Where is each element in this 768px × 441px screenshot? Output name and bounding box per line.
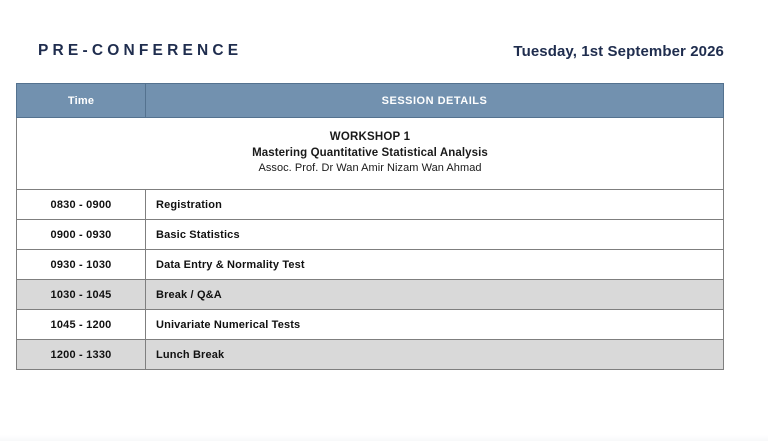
- header-date: Tuesday, 1st September 2026: [513, 44, 724, 59]
- table-row: 0930 - 1030 Data Entry & Normality Test: [17, 250, 724, 280]
- table-row: 1200 - 1330 Lunch Break: [17, 340, 724, 370]
- slide-bottom-edge: [0, 435, 768, 441]
- schedule-table-container: Time SESSION DETAILS WORKSHOP 1 Masterin…: [16, 83, 723, 370]
- schedule-table: Time SESSION DETAILS WORKSHOP 1 Masterin…: [16, 83, 724, 370]
- table-row: 0900 - 0930 Basic Statistics: [17, 220, 724, 250]
- row-session: Break / Q&A: [146, 280, 724, 310]
- row-session: Univariate Numerical Tests: [146, 310, 724, 340]
- row-session: Registration: [146, 190, 724, 220]
- column-header-time: Time: [17, 84, 146, 118]
- table-row: 1045 - 1200 Univariate Numerical Tests: [17, 310, 724, 340]
- workshop-presenter: Assoc. Prof. Dr Wan Amir Nizam Wan Ahmad: [25, 161, 715, 177]
- row-time: 1200 - 1330: [17, 340, 146, 370]
- slide-canvas: PRE-CONFERENCE Tuesday, 1st September 20…: [0, 0, 768, 441]
- row-time: 1030 - 1045: [17, 280, 146, 310]
- workshop-banner-cell: WORKSHOP 1 Mastering Quantitative Statis…: [17, 118, 724, 190]
- table-header-row: Time SESSION DETAILS: [17, 84, 724, 118]
- row-session: Basic Statistics: [146, 220, 724, 250]
- row-time: 0930 - 1030: [17, 250, 146, 280]
- row-time: 1045 - 1200: [17, 310, 146, 340]
- slide-header: PRE-CONFERENCE Tuesday, 1st September 20…: [0, 36, 768, 66]
- workshop-number-label: WORKSHOP 1: [25, 129, 715, 145]
- schedule-table-body: WORKSHOP 1 Mastering Quantitative Statis…: [17, 118, 724, 370]
- workshop-title: Mastering Quantitative Statistical Analy…: [25, 145, 715, 161]
- workshop-banner-row: WORKSHOP 1 Mastering Quantitative Statis…: [17, 118, 724, 190]
- row-session: Data Entry & Normality Test: [146, 250, 724, 280]
- row-session: Lunch Break: [146, 340, 724, 370]
- row-time: 0830 - 0900: [17, 190, 146, 220]
- page-title: PRE-CONFERENCE: [38, 43, 242, 59]
- table-row: 1030 - 1045 Break / Q&A: [17, 280, 724, 310]
- row-time: 0900 - 0930: [17, 220, 146, 250]
- table-row: 0830 - 0900 Registration: [17, 190, 724, 220]
- column-header-session-details: SESSION DETAILS: [146, 84, 724, 118]
